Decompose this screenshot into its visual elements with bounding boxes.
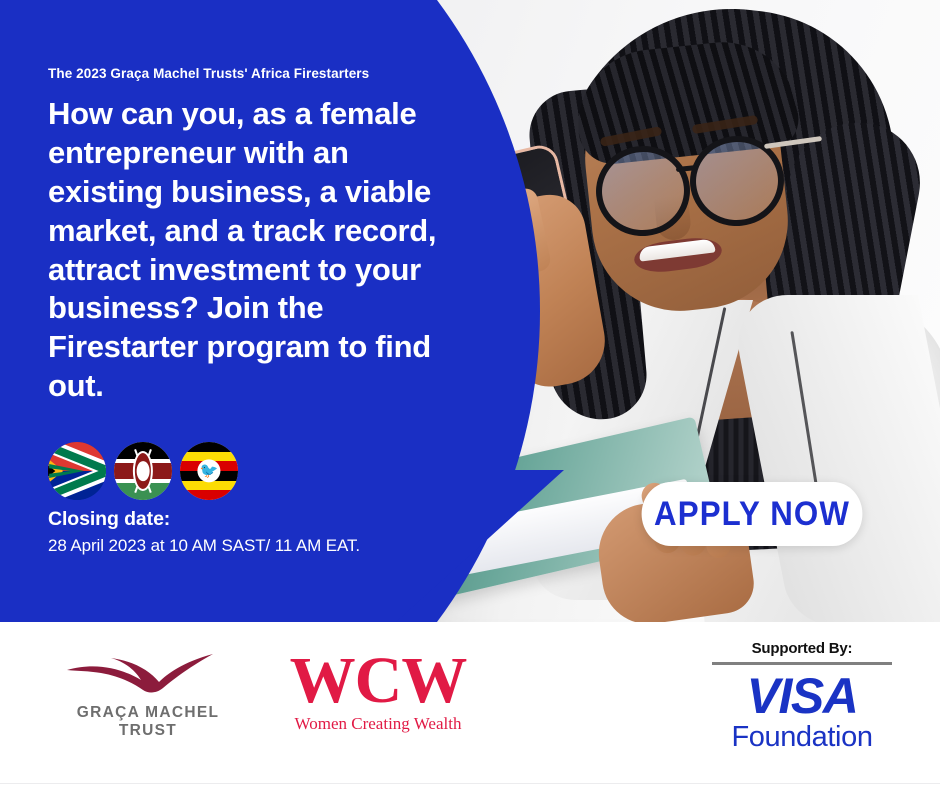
bird-icon <box>63 652 233 698</box>
flag-uganda-icon: 🐦 <box>180 442 238 500</box>
footer-section: GRAÇA MACHEL TRUST WCW Women Creating We… <box>0 622 940 788</box>
visa-divider <box>712 662 892 665</box>
wcw-wordmark: WCW <box>288 650 468 713</box>
kicker-text: The 2023 Graça Machel Trusts' Africa Fir… <box>48 66 478 81</box>
closing-date-value: 28 April 2023 at 10 AM SAST/ 11 AM EAT. <box>48 536 360 556</box>
supported-by-label: Supported By: <box>712 640 892 657</box>
wcw-tagline: Women Creating Wealth <box>288 715 468 732</box>
headline: How can you, as a female entrepreneur wi… <box>48 95 448 406</box>
graca-machel-trust-logo: GRAÇA MACHEL TRUST <box>48 652 248 740</box>
footer-divider <box>0 783 940 784</box>
flag-kenya-icon <box>114 442 172 500</box>
wcw-logo: WCW Women Creating Wealth <box>288 650 468 732</box>
visa-foundation-logo: Supported By: VISA Foundation <box>712 640 892 752</box>
visa-wordmark: VISA <box>712 671 892 721</box>
country-flags: 🐦 <box>48 442 238 500</box>
visa-foundation-label: Foundation <box>712 722 892 752</box>
graca-machel-trust-name: GRAÇA MACHEL TRUST <box>48 704 248 740</box>
flag-south-africa-icon <box>48 442 106 500</box>
closing-date-block: Closing date: 28 April 2023 at 10 AM SAS… <box>48 508 360 556</box>
firestarters-banner: The 2023 Graça Machel Trusts' Africa Fir… <box>0 0 940 788</box>
crane-icon: 🐦 <box>200 464 219 479</box>
apply-now-button[interactable]: APPLY NOW <box>642 482 863 546</box>
closing-date-label: Closing date: <box>48 508 360 531</box>
hero-copy: The 2023 Graça Machel Trusts' Africa Fir… <box>48 66 478 406</box>
hero-section: The 2023 Graça Machel Trusts' Africa Fir… <box>0 0 940 622</box>
